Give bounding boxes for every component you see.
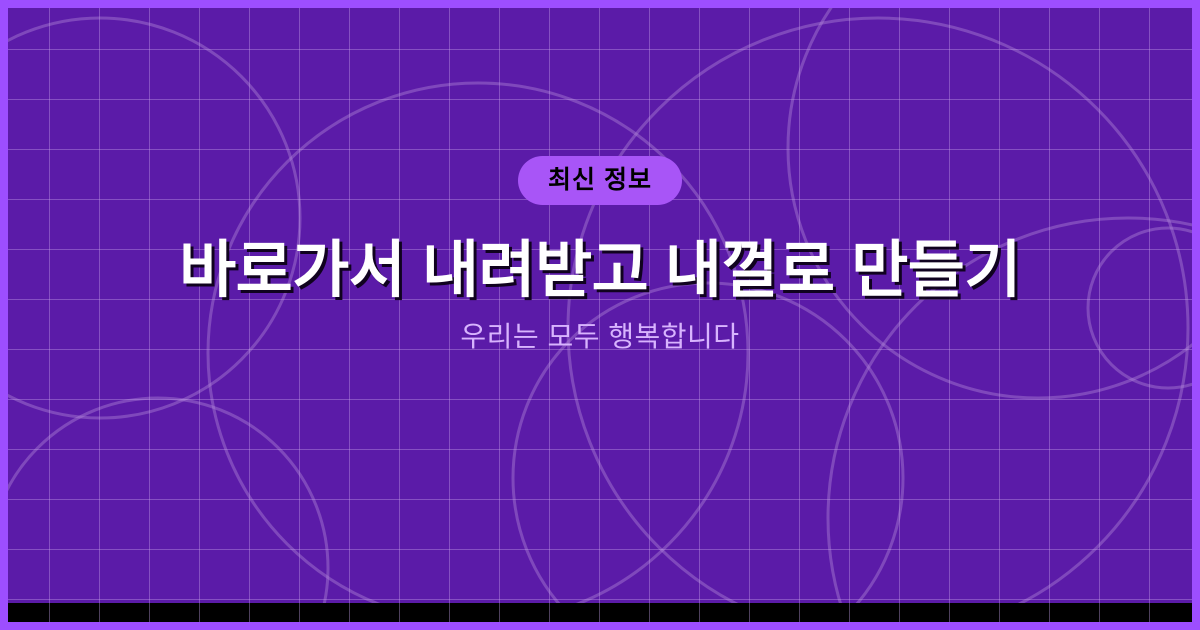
promo-card: 최신 정보 바로가서 내려받고 내껄로 만들기 우리는 모두 행복합니다 <box>0 0 1200 630</box>
page-title: 바로가서 내려받고 내껄로 만들기 <box>179 238 1021 304</box>
card-content: 최신 정보 바로가서 내려받고 내껄로 만들기 우리는 모두 행복합니다 <box>8 8 1192 622</box>
card-interior: 최신 정보 바로가서 내려받고 내껄로 만들기 우리는 모두 행복합니다 <box>8 8 1192 622</box>
page-subtitle: 우리는 모두 행복합니다 <box>460 320 739 354</box>
status-badge: 최신 정보 <box>518 156 682 205</box>
